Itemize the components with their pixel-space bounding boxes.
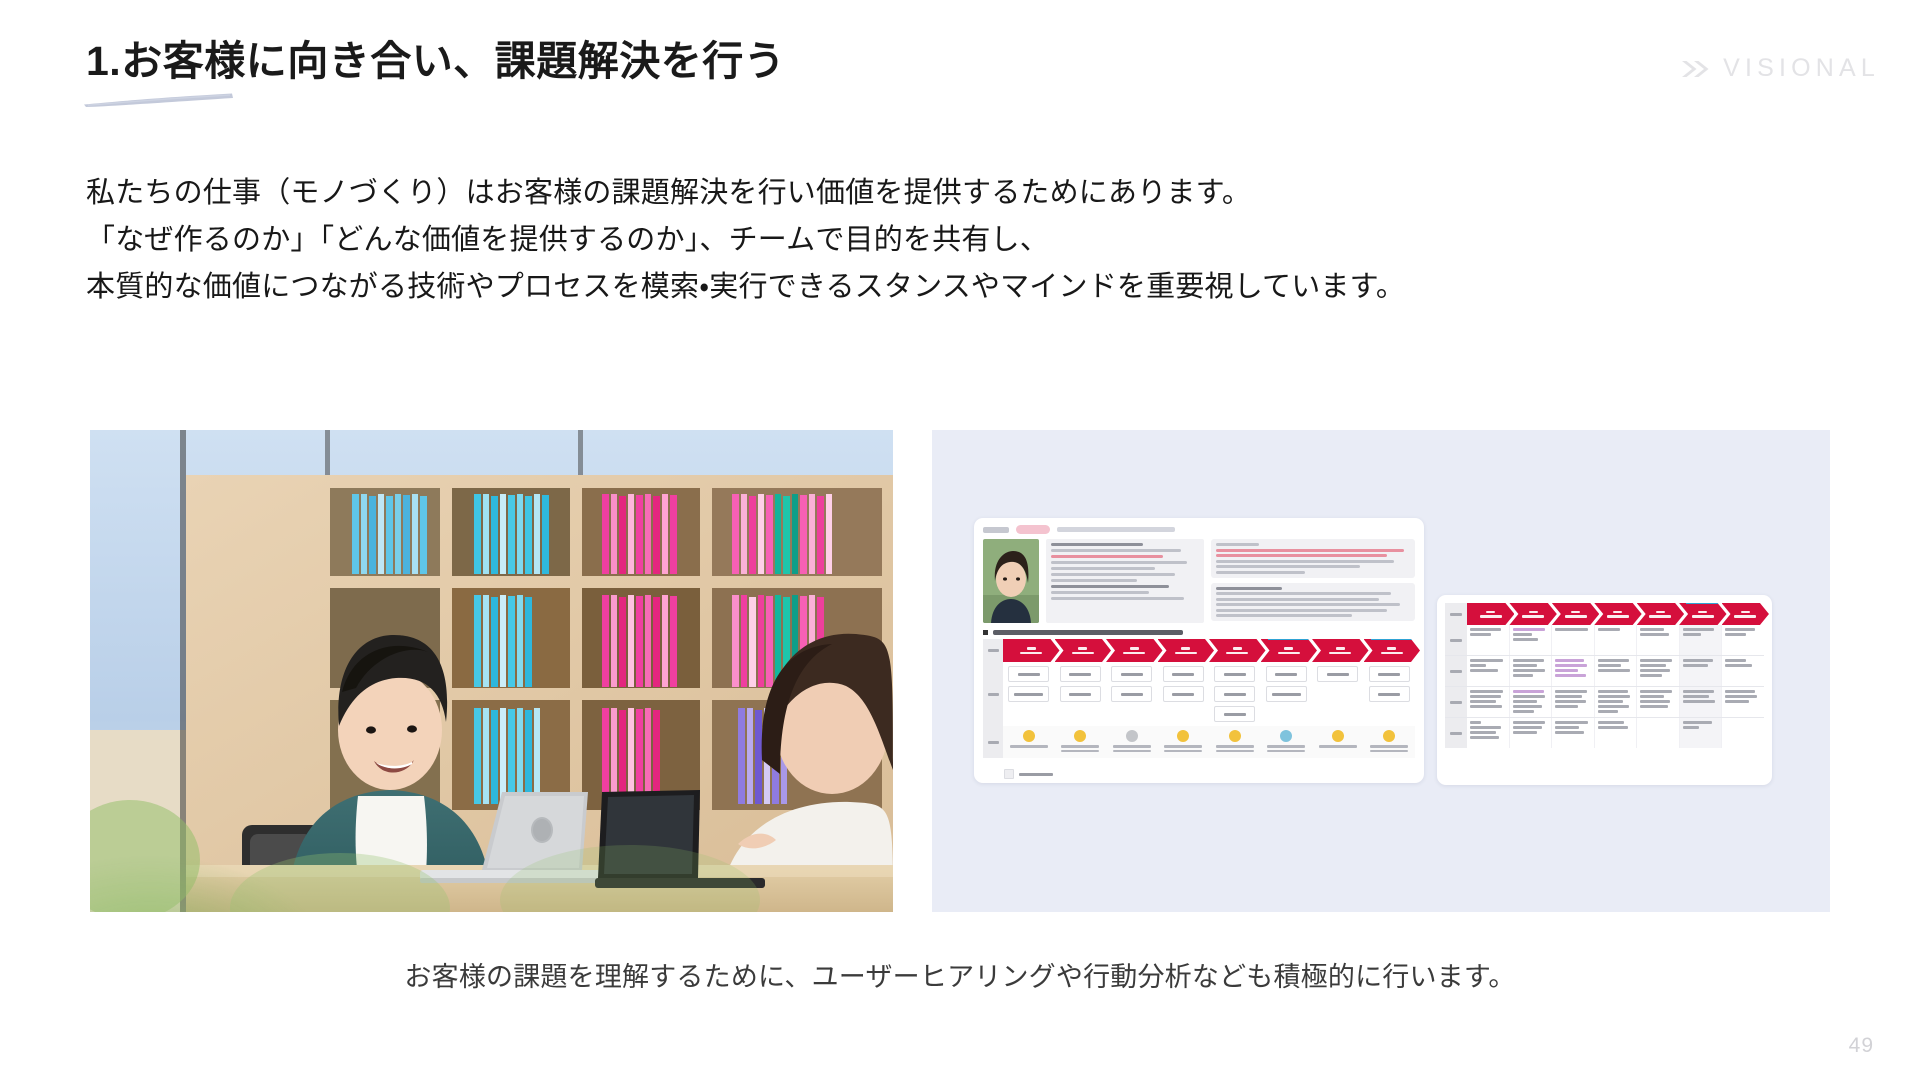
body-line-3: 本質的な価値につながる技術やプロセスを模索・実行できるスタンスやマインドを重要視… xyxy=(86,264,1405,311)
row-label-stage xyxy=(983,639,1003,662)
persona-profile xyxy=(974,537,1424,627)
double-chevron-icon xyxy=(1681,59,1715,79)
stage-highlight-tag xyxy=(1686,597,1720,604)
persona-attributes xyxy=(1046,539,1204,623)
emotion-cell[interactable] xyxy=(1209,726,1261,758)
emotion-face-icon xyxy=(1280,730,1292,742)
grid-stages xyxy=(1467,603,1764,625)
emotion-face-icon xyxy=(1383,730,1395,742)
grid-cell[interactable] xyxy=(1637,625,1680,655)
grid-body xyxy=(1437,625,1772,756)
body-copy: 私たちの仕事（モノづくり）はお客様の課題解決を行い価値を提供するためにあります。… xyxy=(86,170,1405,311)
brand-name: VISIONAL xyxy=(1723,56,1880,81)
emotion-face-icon xyxy=(1074,730,1086,742)
grid-cell[interactable] xyxy=(1680,718,1723,748)
journey-map-heading-text xyxy=(993,630,1183,635)
grid-cell[interactable] xyxy=(1595,625,1638,655)
grid-stage-1[interactable] xyxy=(1467,603,1514,625)
emotion-face-icon xyxy=(1177,730,1189,742)
persona-header xyxy=(974,518,1424,537)
journey-cell[interactable] xyxy=(1364,662,1416,726)
journey-stage-row xyxy=(983,639,1415,662)
grid-cell[interactable] xyxy=(1637,656,1680,686)
slide-root: 1.お客様に向き合い、課題解決を行う VISIONAL 私たちの仕事（モノづくり… xyxy=(0,0,1920,1080)
emotion-cell[interactable] xyxy=(1364,726,1416,758)
brand-logo: VISIONAL xyxy=(1681,56,1880,81)
journey-stage-3[interactable] xyxy=(1106,639,1163,662)
grid-cell[interactable] xyxy=(1552,656,1595,686)
journey-stages xyxy=(1003,639,1415,662)
grid-cell[interactable] xyxy=(1552,625,1595,655)
journey-map-heading xyxy=(974,627,1424,639)
journey-cell[interactable] xyxy=(1106,662,1158,726)
grid-cell[interactable] xyxy=(1722,656,1764,686)
grid-cell[interactable] xyxy=(1510,718,1553,748)
grid-stage-4[interactable] xyxy=(1594,603,1641,625)
grid-stage-2[interactable] xyxy=(1509,603,1556,625)
persona-avatar xyxy=(983,539,1039,623)
journey-stage-5[interactable] xyxy=(1209,639,1266,662)
row-label xyxy=(1445,718,1467,748)
row-label xyxy=(1445,687,1467,717)
grid-cell[interactable] xyxy=(1680,625,1723,655)
persona-notes xyxy=(1211,539,1415,623)
persona-document[interactable] xyxy=(974,518,1424,783)
journey-stage-7[interactable] xyxy=(1312,639,1369,662)
grid-row xyxy=(1445,625,1764,656)
page-title: 1.お客様に向き合い、課題解決を行う xyxy=(86,36,785,87)
journey-legend xyxy=(974,764,1424,783)
grid-cell[interactable] xyxy=(1637,718,1680,748)
persona-subtitle xyxy=(1057,527,1175,532)
bullet-square-icon xyxy=(983,630,988,635)
journey-cell[interactable] xyxy=(1312,662,1364,726)
grid-row xyxy=(1445,656,1764,687)
emotion-cell[interactable] xyxy=(1055,726,1107,758)
emotion-cell[interactable] xyxy=(1261,726,1313,758)
emotion-cell[interactable] xyxy=(1312,726,1364,758)
journey-action-row xyxy=(983,662,1415,726)
note-block-primary xyxy=(1211,539,1415,578)
legend-item xyxy=(1004,769,1415,779)
media-row xyxy=(0,430,1920,915)
body-line-1: 私たちの仕事（モノづくり）はお客様の課題解決を行い価値を提供するためにあります。 xyxy=(86,170,1405,217)
grid-cell[interactable] xyxy=(1552,718,1595,748)
emotion-cell[interactable] xyxy=(1003,726,1055,758)
body-line-2: 「なぜ作るのか」「どんな価値を提供するのか」、チームで目的を共有し、 xyxy=(86,217,1405,264)
grid-cell[interactable] xyxy=(1467,625,1510,655)
grid-stage-5[interactable] xyxy=(1637,603,1684,625)
grid-cell[interactable] xyxy=(1552,687,1595,717)
grid-cell[interactable] xyxy=(1510,687,1553,717)
note-block-secondary xyxy=(1211,583,1415,622)
row-label xyxy=(1445,625,1467,655)
emotion-face-icon xyxy=(1229,730,1241,742)
grid-cell[interactable] xyxy=(1722,625,1764,655)
row-label-actions xyxy=(983,662,1003,726)
row-label-stage xyxy=(1445,603,1467,625)
grid-cell[interactable] xyxy=(1595,718,1638,748)
title-underline-brushstroke xyxy=(82,92,234,107)
grid-cell[interactable] xyxy=(1680,656,1723,686)
journey-stage-2[interactable] xyxy=(1055,639,1112,662)
journey-cell[interactable] xyxy=(1003,662,1055,726)
journey-cell[interactable] xyxy=(1055,662,1107,726)
journey-emotion-cells xyxy=(1003,726,1415,758)
grid-cell[interactable] xyxy=(1467,718,1510,748)
grid-cell[interactable] xyxy=(1595,656,1638,686)
grid-cell[interactable] xyxy=(1510,656,1553,686)
target-badge xyxy=(1016,525,1050,534)
emotion-face-icon xyxy=(1126,730,1138,742)
grid-row xyxy=(1445,718,1764,748)
office-collaboration-photo xyxy=(90,430,893,912)
customer-journey-map xyxy=(974,639,1424,764)
grid-stage-7[interactable] xyxy=(1722,603,1769,625)
grid-stage-3[interactable] xyxy=(1552,603,1599,625)
journey-cell[interactable] xyxy=(1261,662,1313,726)
grid-cell[interactable] xyxy=(1680,687,1723,717)
journey-stage-1[interactable] xyxy=(1003,639,1060,662)
photo-illustration xyxy=(90,430,893,912)
grid-cell[interactable] xyxy=(1467,687,1510,717)
journey-emotion-row xyxy=(983,726,1415,758)
grid-cell[interactable] xyxy=(1467,656,1510,686)
journey-detail-grid[interactable] xyxy=(1437,595,1772,785)
grid-cell[interactable] xyxy=(1637,687,1680,717)
grid-stage-header xyxy=(1437,595,1772,625)
page-number: 49 xyxy=(1849,1034,1874,1058)
journey-stage-4[interactable] xyxy=(1158,639,1215,662)
grid-cell[interactable] xyxy=(1722,718,1764,748)
media-caption: お客様の課題を理解するために、ユーザーヒアリングや行動分析なども積極的に行います… xyxy=(0,955,1920,994)
grid-cell[interactable] xyxy=(1722,687,1764,717)
grid-row xyxy=(1445,687,1764,718)
journey-stage-8[interactable] xyxy=(1364,639,1421,662)
page-title-group: 1.お客様に向き合い、課題解決を行う xyxy=(86,36,785,87)
grid-cell[interactable] xyxy=(1510,625,1553,655)
grid-cell[interactable] xyxy=(1595,687,1638,717)
emotion-face-icon xyxy=(1023,730,1035,742)
persona-label xyxy=(983,527,1009,533)
legend-swatch-neutral xyxy=(1004,769,1014,779)
emotion-cell[interactable] xyxy=(1106,726,1158,758)
journey-action-cells xyxy=(1003,662,1415,726)
row-label xyxy=(1445,656,1467,686)
journey-cell[interactable] xyxy=(1209,662,1261,726)
emotion-face-icon xyxy=(1332,730,1344,742)
grid-stage-6[interactable] xyxy=(1679,603,1726,625)
journey-cell[interactable] xyxy=(1158,662,1210,726)
row-label-emotions xyxy=(983,726,1003,758)
journey-stage-6[interactable] xyxy=(1261,639,1318,662)
persona-journey-map-panel xyxy=(932,430,1830,912)
emotion-cell[interactable] xyxy=(1158,726,1210,758)
